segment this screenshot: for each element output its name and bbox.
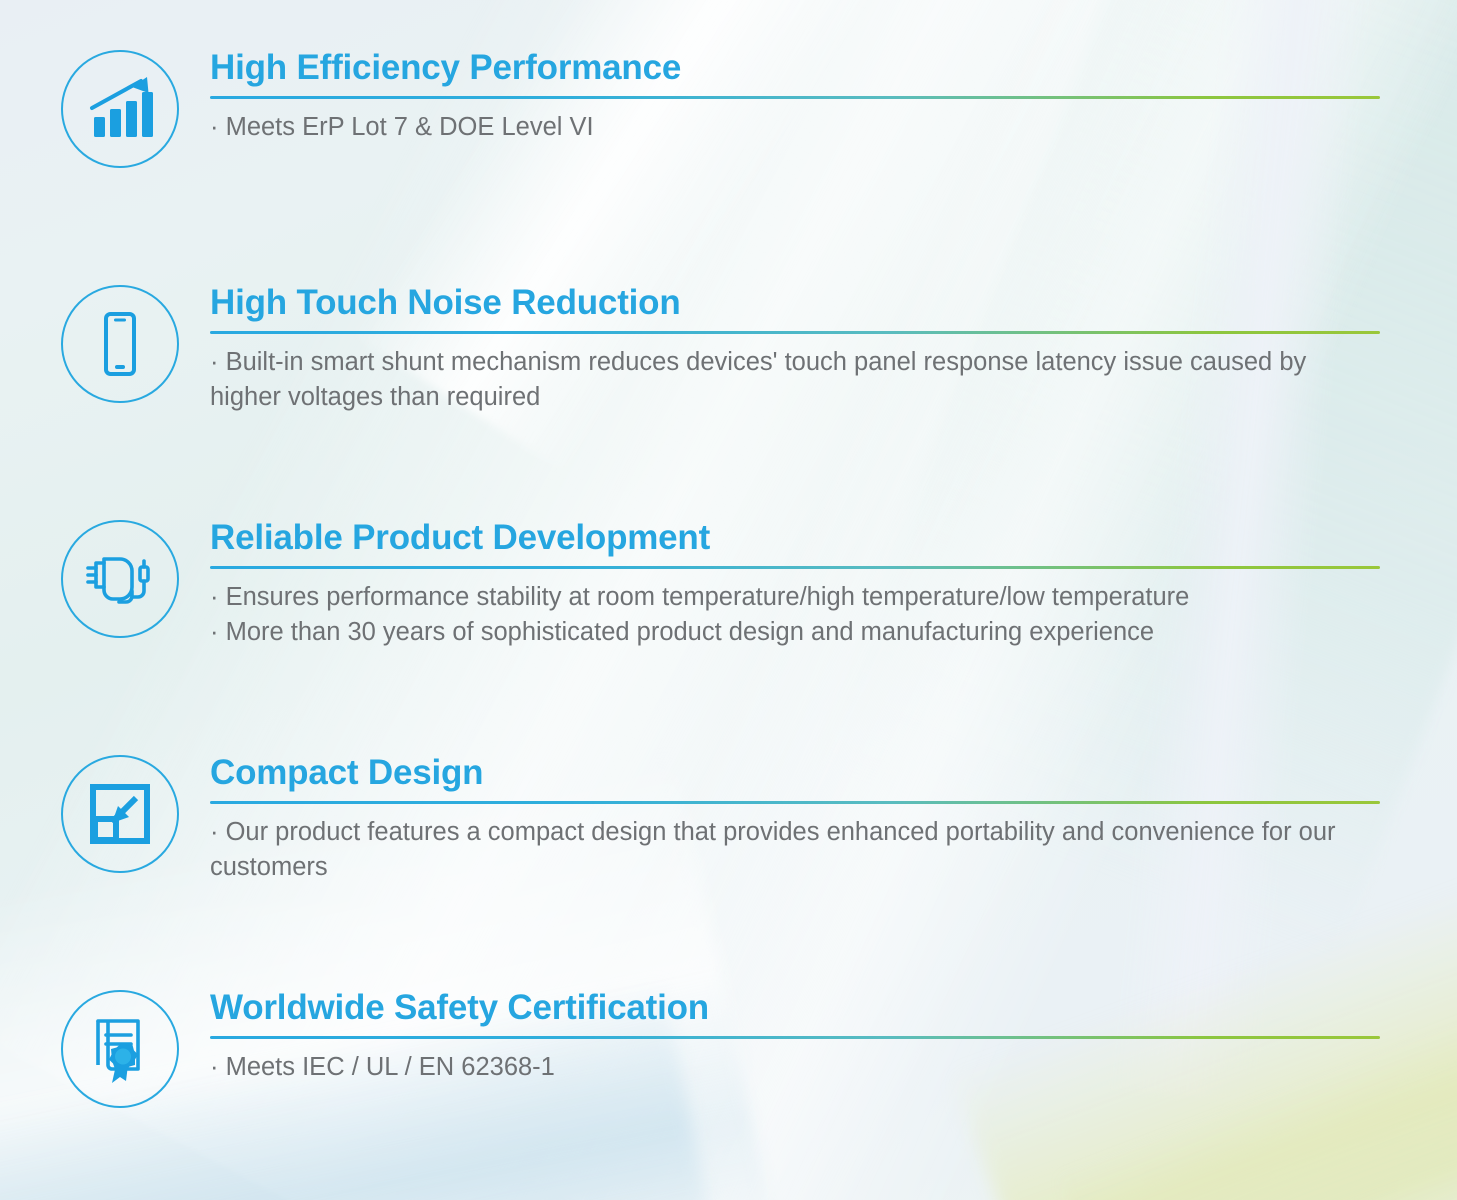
feature-body: · Meets IEC / UL / EN 62368-1 xyxy=(210,1050,1380,1085)
feature-icon-wrap xyxy=(55,755,185,873)
feature-title: High Touch Noise Reduction xyxy=(210,285,1380,322)
compact-resize-icon xyxy=(61,755,179,873)
power-adapter-icon xyxy=(61,520,179,638)
feature-body: · Meets ErP Lot 7 & DOE Level VI xyxy=(210,110,1380,145)
feature-divider xyxy=(210,1036,1380,1039)
feature-icon-wrap xyxy=(55,285,185,403)
feature-title: Reliable Product Development xyxy=(210,520,1380,557)
feature-divider xyxy=(210,331,1380,334)
feature-body: · Our product features a compact design … xyxy=(210,815,1380,885)
feature-divider xyxy=(210,566,1380,569)
feature-item-worldwide-safety-certification: Worldwide Safety Certification · Meets I… xyxy=(0,990,1457,1108)
feature-content: Compact Design · Our product features a … xyxy=(210,755,1457,885)
feature-title: Compact Design xyxy=(210,755,1380,792)
feature-highlights-page: High Efficiency Performance · Meets ErP … xyxy=(0,0,1457,1200)
certificate-award-icon xyxy=(61,990,179,1108)
feature-content: Reliable Product Development · Ensures p… xyxy=(210,520,1457,650)
feature-body: · Built-in smart shunt mechanism reduces… xyxy=(210,345,1380,415)
bar-chart-growth-icon xyxy=(61,50,179,168)
feature-body: · Ensures performance stability at room … xyxy=(210,580,1380,650)
feature-item-compact-design: Compact Design · Our product features a … xyxy=(0,755,1457,885)
feature-item-high-touch-noise-reduction: High Touch Noise Reduction · Built-in sm… xyxy=(0,285,1457,415)
feature-bullet-line: · Our product features a compact design … xyxy=(210,815,1380,885)
feature-content: High Efficiency Performance · Meets ErP … xyxy=(210,50,1457,145)
feature-divider xyxy=(210,96,1380,99)
feature-icon-wrap xyxy=(55,50,185,168)
feature-bullet-line: · Built-in smart shunt mechanism reduces… xyxy=(210,345,1380,415)
feature-divider xyxy=(210,801,1380,804)
feature-list: High Efficiency Performance · Meets ErP … xyxy=(0,0,1457,1200)
feature-bullet-line: · Ensures performance stability at room … xyxy=(210,580,1380,615)
feature-item-reliable-product-development: Reliable Product Development · Ensures p… xyxy=(0,520,1457,650)
feature-title: High Efficiency Performance xyxy=(210,50,1380,87)
feature-item-high-efficiency-performance: High Efficiency Performance · Meets ErP … xyxy=(0,50,1457,168)
feature-icon-wrap xyxy=(55,990,185,1108)
feature-bullet-line: · More than 30 years of sophisticated pr… xyxy=(210,615,1380,650)
feature-content: Worldwide Safety Certification · Meets I… xyxy=(210,990,1457,1085)
feature-bullet-line: · Meets ErP Lot 7 & DOE Level VI xyxy=(210,110,1380,145)
feature-title: Worldwide Safety Certification xyxy=(210,990,1380,1027)
feature-icon-wrap xyxy=(55,520,185,638)
feature-bullet-line: · Meets IEC / UL / EN 62368-1 xyxy=(210,1050,1380,1085)
feature-content: High Touch Noise Reduction · Built-in sm… xyxy=(210,285,1457,415)
smartphone-icon xyxy=(61,285,179,403)
